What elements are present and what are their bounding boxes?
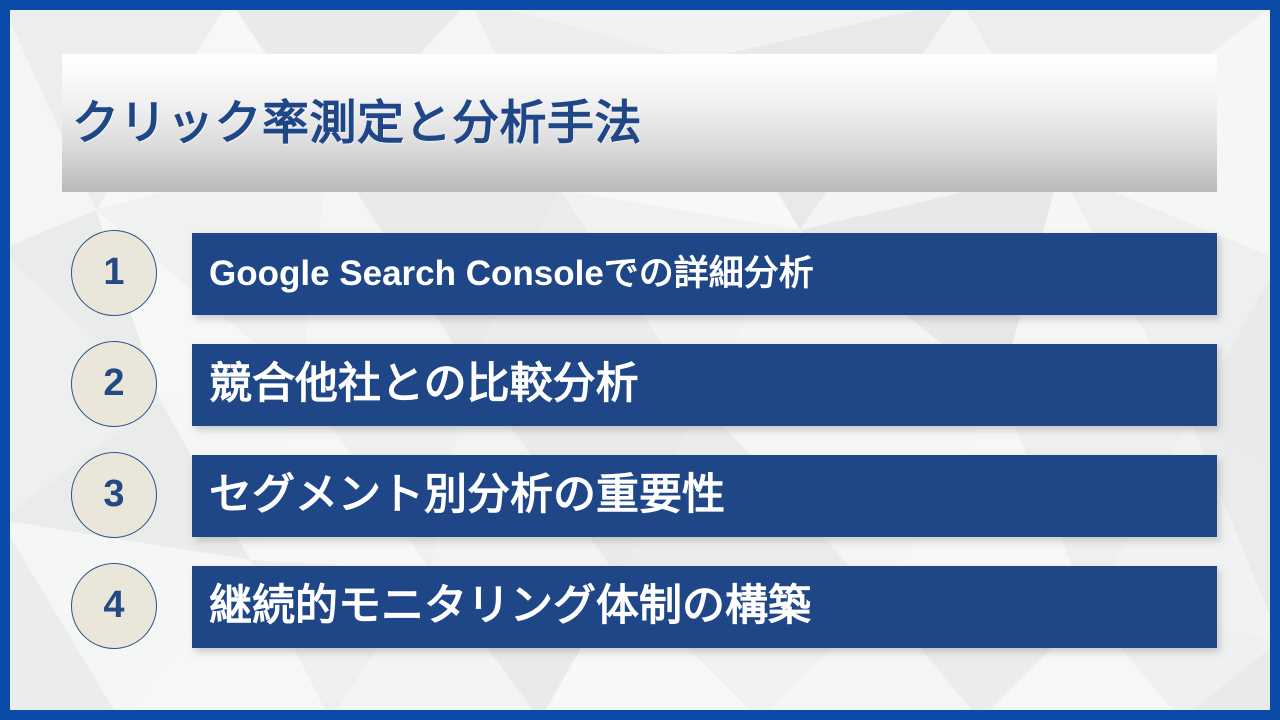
list-item-bar[interactable]: Google Search Consoleでの詳細分析 [192, 233, 1217, 315]
list-item-label: 競合他社との比較分析 [192, 362, 639, 407]
step-number-badge: 2 [71, 341, 157, 427]
title-plate: クリック率測定と分析手法 [62, 54, 1217, 192]
page-title: クリック率測定と分析手法 [72, 97, 642, 149]
presentation-slide: クリック率測定と分析手法 1 Google Search Consoleでの詳細… [0, 0, 1280, 720]
step-number: 4 [103, 586, 124, 624]
list-item-label: セグメント別分析の重要性 [192, 473, 725, 518]
step-number-badge: 1 [71, 230, 157, 316]
list-item[interactable]: 2 競合他社との比較分析 [0, 344, 1280, 426]
list-item-bar[interactable]: 競合他社との比較分析 [192, 344, 1217, 426]
step-number: 1 [103, 253, 124, 291]
list-item-bar[interactable]: セグメント別分析の重要性 [192, 455, 1217, 537]
list-item-bar[interactable]: 継続的モニタリング体制の構築 [192, 566, 1217, 648]
step-number: 3 [103, 475, 124, 513]
step-number-badge: 3 [71, 452, 157, 538]
list-item[interactable]: 3 セグメント別分析の重要性 [0, 455, 1280, 537]
list-item[interactable]: 4 継続的モニタリング体制の構築 [0, 566, 1280, 648]
list-item-label: 継続的モニタリング体制の構築 [192, 584, 811, 629]
list-item-label: Google Search Consoleでの詳細分析 [192, 256, 814, 293]
step-number-badge: 4 [71, 563, 157, 649]
list-item[interactable]: 1 Google Search Consoleでの詳細分析 [0, 233, 1280, 315]
step-number: 2 [103, 364, 124, 402]
numbered-list: 1 Google Search Consoleでの詳細分析 2 競合他社との比較… [0, 233, 1280, 648]
